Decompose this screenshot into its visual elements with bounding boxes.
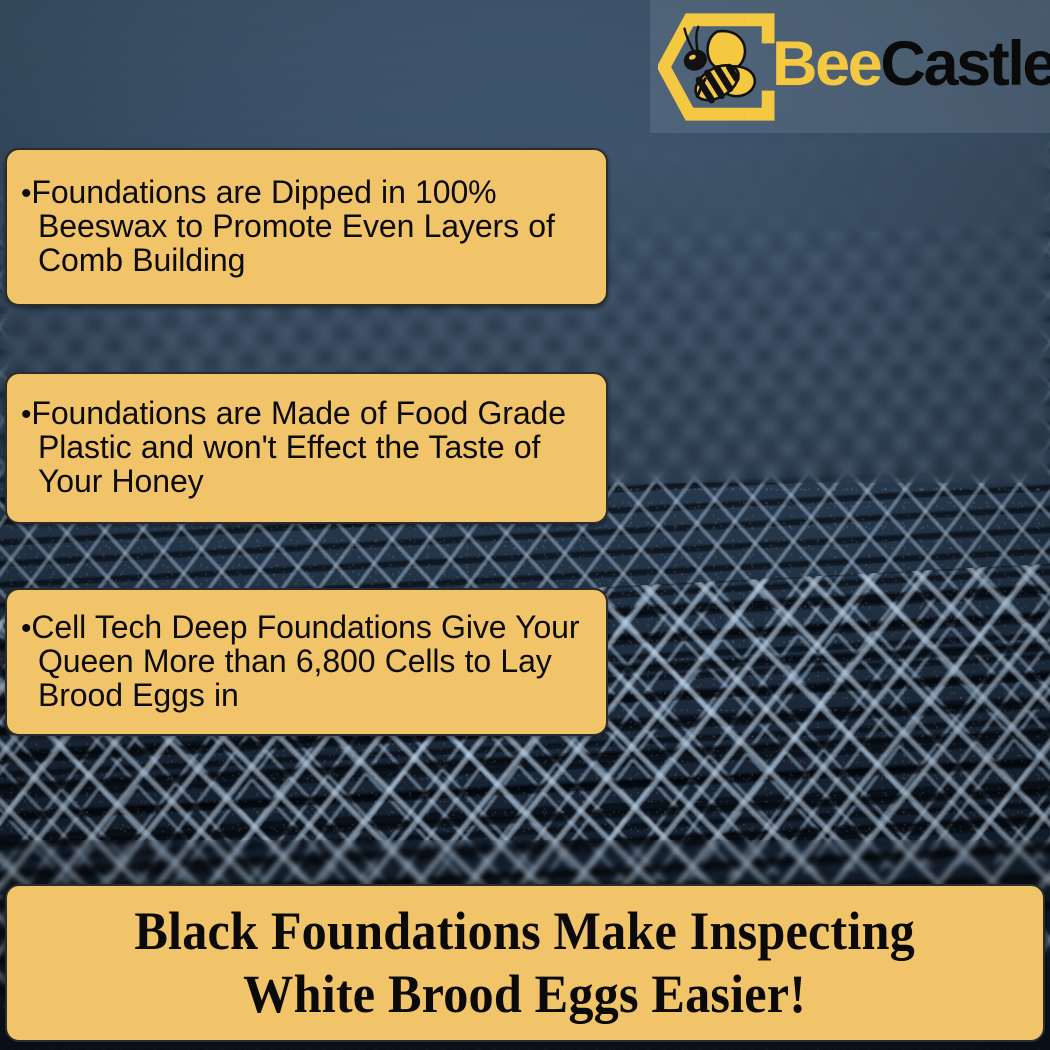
feature-card: •Foundations are Dipped in 100% Beeswax … [5,148,608,306]
feature-card: •Foundations are Made of Food Grade Plas… [5,372,608,524]
feature-text-body: Foundations are Dipped in 100% Beeswax t… [31,174,554,278]
brand-wordmark: BeeCastle [772,33,1050,96]
brand-wordmark-castle: Castle [880,29,1050,99]
headline-banner: Black Foundations Make Inspecting White … [5,884,1045,1042]
feature-text: •Foundations are Made of Food Grade Plas… [21,397,590,499]
bullet-point-icon: • [21,398,31,431]
feature-text: •Cell Tech Deep Foundations Give Your Qu… [21,611,590,713]
headline-line-2: White Brood Eggs Easier! [244,967,807,1022]
bullet-point-icon: • [21,612,31,645]
feature-text-body: Cell Tech Deep Foundations Give Your Que… [31,609,579,713]
brand-wordmark-bee: Bee [772,29,880,99]
product-feature-image: BeeCastle •Foundations are Dipped in 100… [0,0,1050,1050]
feature-card: •Cell Tech Deep Foundations Give Your Qu… [5,588,608,736]
bee-in-hexagon-icon [658,8,776,126]
brand-logo-band: BeeCastle [650,0,1050,133]
headline-line-1: Black Foundations Make Inspecting [135,904,916,959]
feature-text: •Foundations are Dipped in 100% Beeswax … [21,176,590,278]
bullet-point-icon: • [21,177,31,210]
feature-text-body: Foundations are Made of Food Grade Plast… [31,395,566,499]
